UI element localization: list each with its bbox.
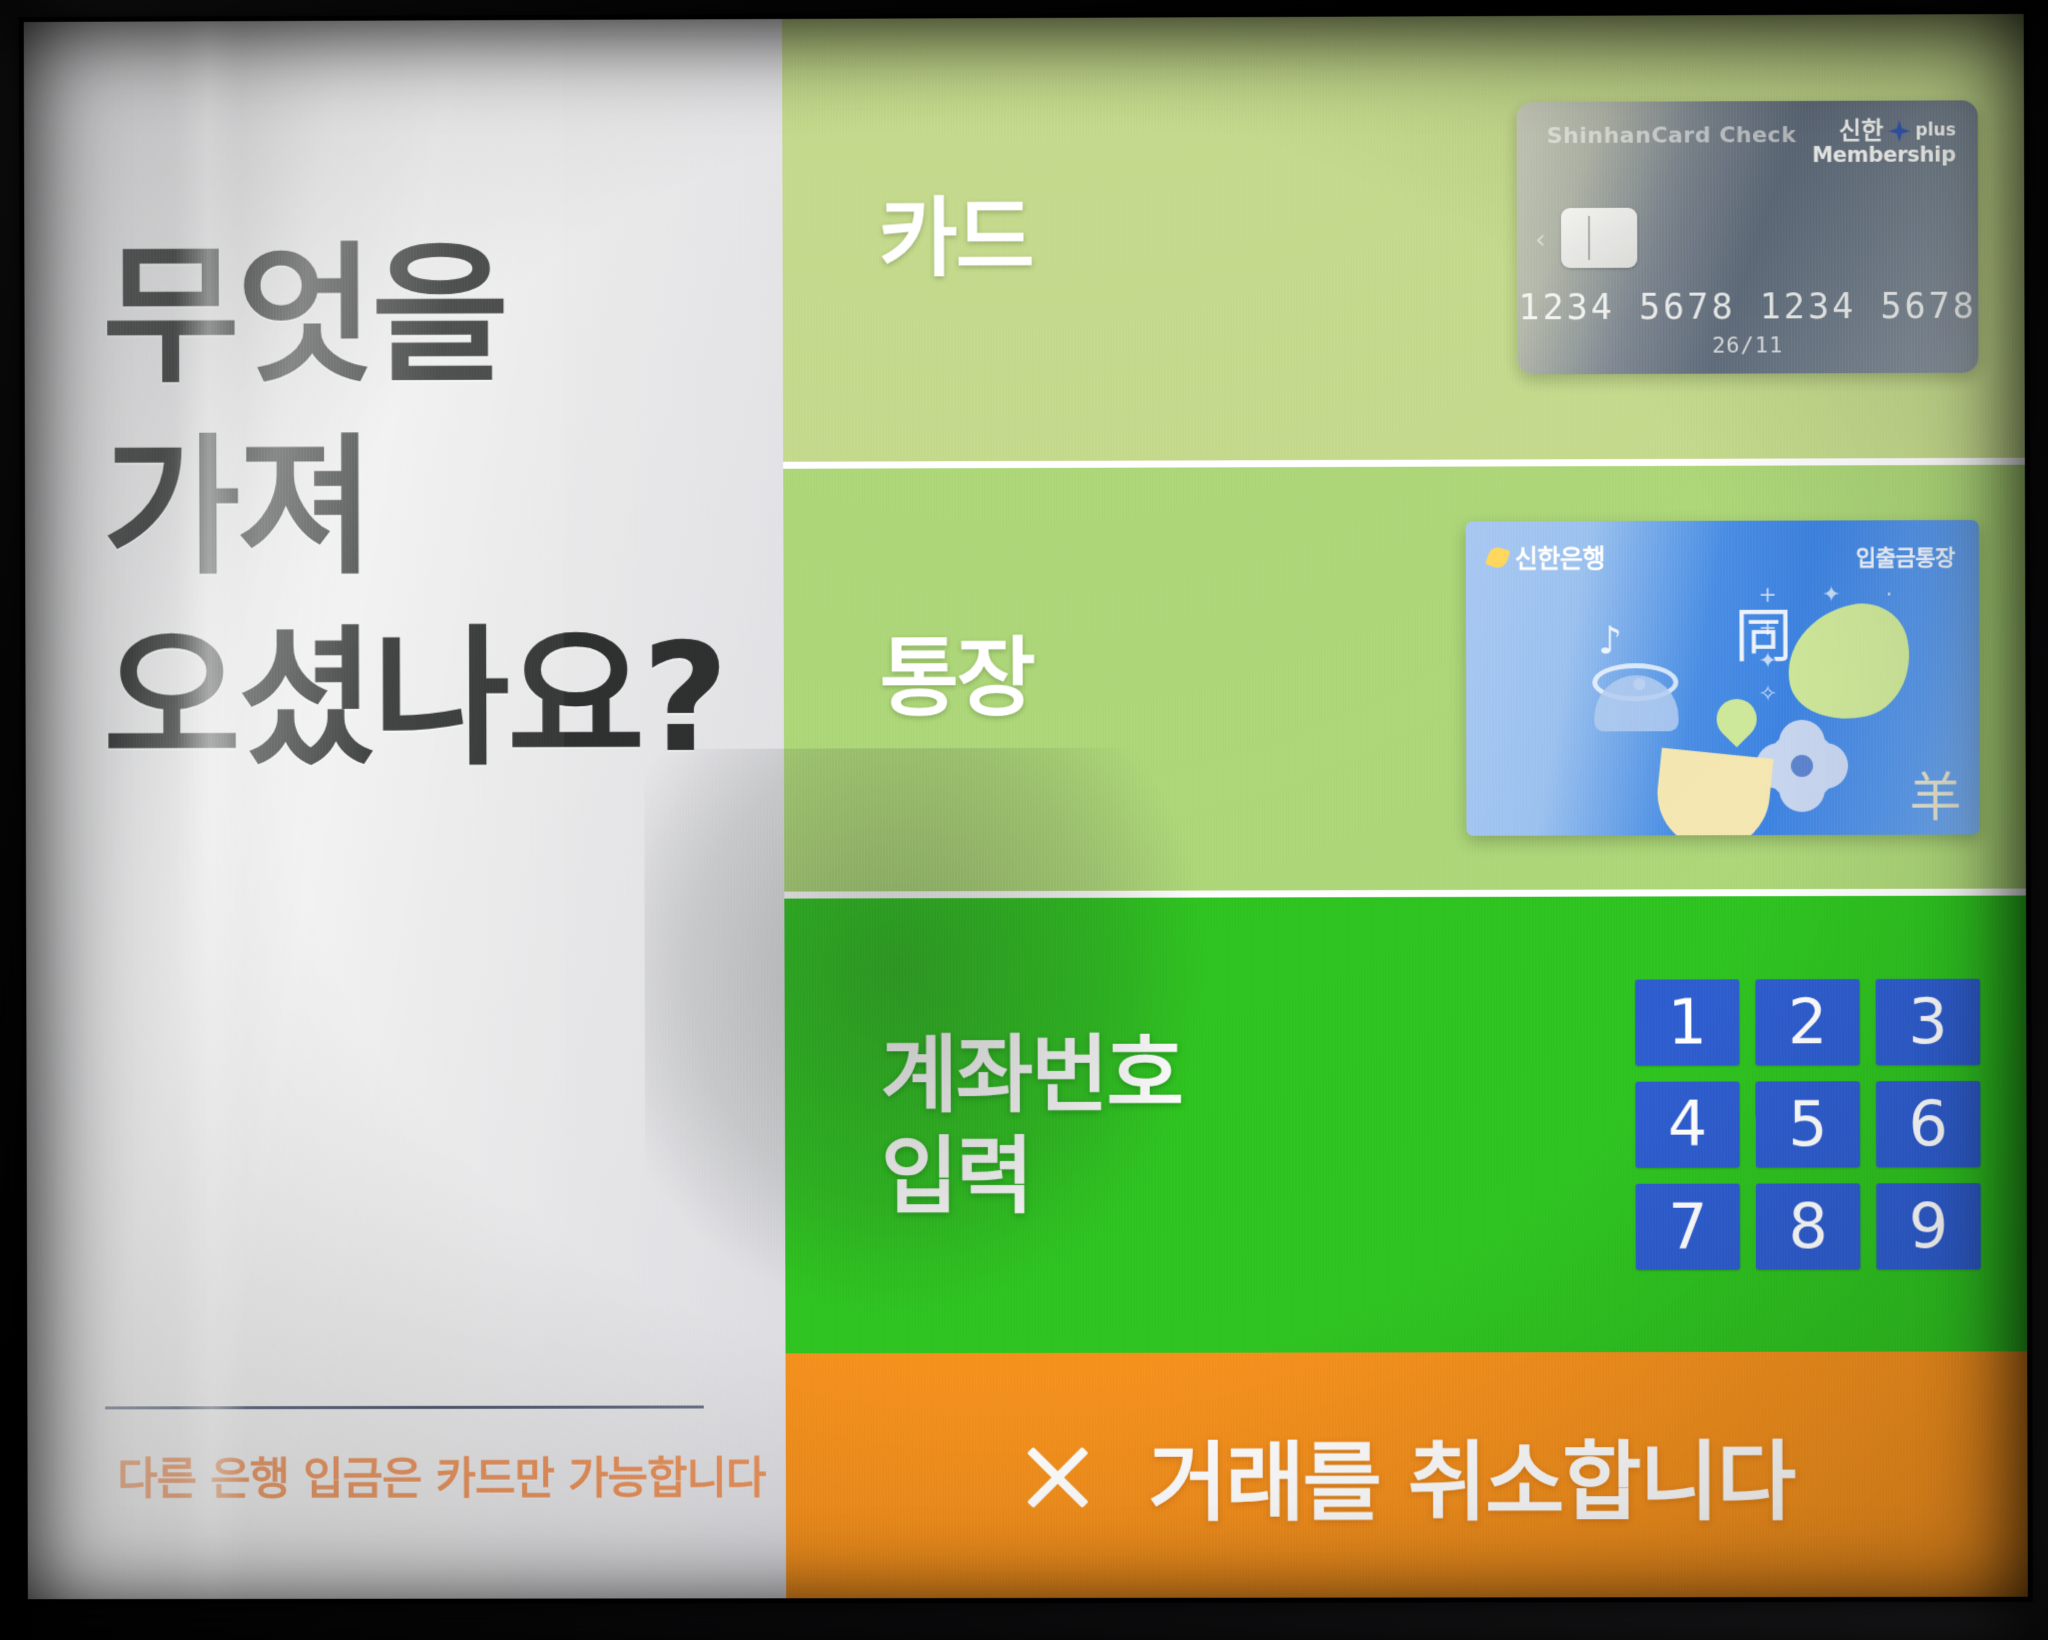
option-button-card[interactable]: 카드 ShinhanCard Check 신한 plus Membership	[782, 14, 2025, 469]
passbook-account-type: 입출금통장	[1856, 540, 1955, 572]
keypad-key-3[interactable]: 3	[1876, 978, 1981, 1064]
chevron-left-icon: ‹	[1535, 226, 1546, 253]
kanji-same-icon: 同	[1734, 606, 1792, 664]
passbook-image: 신한은행 입출금통장 + ✦ · + ✧ · ✦ + · ✧ + 同 羊 ♪	[1466, 520, 1980, 836]
flower-decoration-icon	[1767, 730, 1837, 800]
page-title: 무엇을 가져 오셨나요?	[102, 219, 784, 797]
headline-line-2: 가져	[103, 411, 784, 605]
bank-card-image: ShinhanCard Check 신한 plus Membership ‹	[1517, 100, 1979, 374]
kanji-sheep-icon: 羊	[1909, 772, 1961, 824]
keypad-key-4[interactable]: 4	[1635, 1081, 1739, 1167]
passbook-bank-logo: 신한은행	[1488, 539, 1605, 575]
keypad-key-2[interactable]: 2	[1755, 979, 1860, 1065]
passbook-artwork: 신한은행 입출금통장 + ✦ · + ✧ · ✦ + · ✧ + 同 羊 ♪	[1465, 465, 2026, 890]
prompt-pane: 무엇을 가져 오셨나요? 다른 은행 입금은 카드만 가능합니다	[24, 19, 786, 1599]
keypad-artwork: 1 2 3 4 5 6 7 8 9	[1635, 896, 2027, 1352]
keypad-key-8[interactable]: 8	[1756, 1183, 1861, 1269]
options-pane: 카드 ShinhanCard Check 신한 plus Membership	[782, 14, 2028, 1598]
option-button-passbook[interactable]: 통장 신한은행 입출금통장 + ✦ · + ✧ · ✦ + · ✧ + 同 羊	[783, 465, 2026, 899]
cancel-button-content: 거래를 취소합니다	[1018, 1412, 1794, 1538]
cancel-transaction-button[interactable]: 거래를 취소합니다	[786, 1351, 2028, 1598]
shinhan-bird-icon	[1485, 544, 1510, 569]
cancel-button-label: 거래를 취소합니다	[1148, 1412, 1794, 1538]
card-logo-membership-text: Membership	[1812, 144, 1956, 167]
headline-line-1: 무엇을	[102, 219, 783, 413]
keypad-key-7[interactable]: 7	[1636, 1183, 1740, 1269]
card-expiry-text: 26/11	[1517, 332, 1978, 359]
option-label-card: 카드	[878, 188, 1032, 292]
card-logo-top-row: 신한 plus	[1812, 118, 1956, 144]
keypad-key-9[interactable]: 9	[1876, 1183, 1981, 1269]
keypad-key-6[interactable]: 6	[1876, 1080, 1981, 1166]
music-note-icon: ♪	[1598, 621, 1622, 659]
shinhan-sparkle-icon	[1888, 120, 1910, 142]
close-x-icon	[1018, 1436, 1096, 1514]
heart-decoration-icon	[1708, 690, 1765, 747]
card-brand-text: ShinhanCard Check	[1547, 123, 1797, 149]
keypad-key-5[interactable]: 5	[1756, 1081, 1861, 1167]
option-button-account-number[interactable]: 계좌번호 입력 1 2 3 4 5 6 7 8 9	[784, 896, 2027, 1354]
headline-line-3: 오셨나요?	[103, 603, 784, 797]
card-number-text: 1234 5678 1234 5678	[1517, 286, 1978, 328]
option-label-account-number: 계좌번호 입력	[881, 1024, 1183, 1226]
footer-note: 다른 은행 입금은 카드만 가능합니다	[117, 1442, 765, 1507]
screen-content: 무엇을 가져 오셨나요? 다른 은행 입금은 카드만 가능합니다 카드 Shin…	[24, 14, 2028, 1599]
card-logo-plus-text: plus	[1915, 122, 1955, 141]
passbook-bank-name: 신한은행	[1515, 539, 1605, 575]
card-artwork: ShinhanCard Check 신한 plus Membership ‹	[1516, 14, 2025, 459]
numeric-keypad: 1 2 3 4 5 6 7 8 9	[1635, 978, 1981, 1269]
atm-machine-bezel: 무엇을 가져 오셨나요? 다른 은행 입금은 카드만 가능합니다 카드 Shin…	[0, 0, 2048, 1640]
tulip-decoration-icon	[1652, 747, 1773, 835]
keypad-key-1[interactable]: 1	[1635, 979, 1739, 1065]
footer-divider	[105, 1405, 704, 1409]
atm-screen: 무엇을 가져 오셨나요? 다른 은행 입금은 카드만 가능합니다 카드 Shin…	[24, 14, 2028, 1599]
card-chip-icon	[1561, 207, 1637, 267]
shinhan-plus-logo: 신한 plus Membership	[1812, 118, 1956, 167]
shinhan-logo-text: 신한	[1839, 118, 1883, 144]
option-label-passbook: 통장	[880, 628, 1034, 732]
